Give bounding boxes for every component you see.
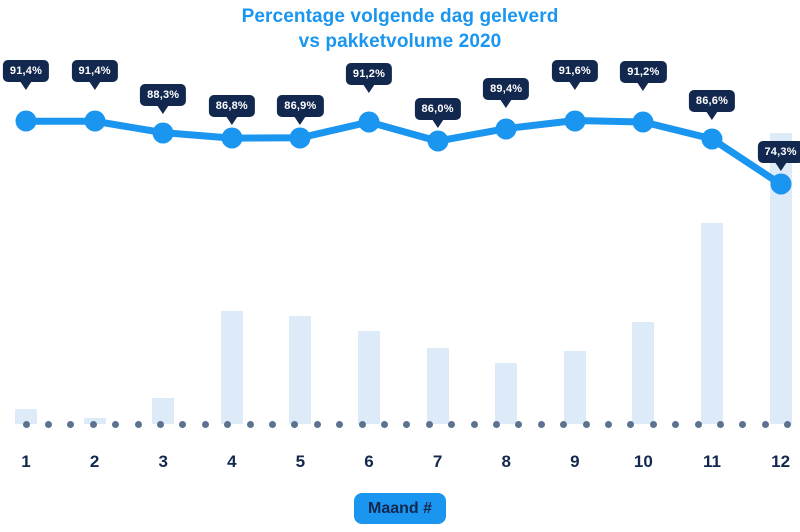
x-tick-label: 10 <box>634 452 653 472</box>
data-label: 88,3% <box>140 84 186 106</box>
data-label: 86,9% <box>277 95 323 117</box>
x-tick-label: 7 <box>433 452 442 472</box>
x-tick-label: 8 <box>501 452 510 472</box>
chart-title-line-1: Percentage volgende dag geleverd <box>242 6 559 27</box>
x-axis-tick-labels: 123456789101112 <box>0 452 800 478</box>
x-tick-label: 4 <box>227 452 236 472</box>
x-axis-title: Maand # <box>354 493 446 524</box>
chart-title: Percentage volgende dag geleverd vs pakk… <box>0 4 800 54</box>
data-label: 91,2% <box>346 63 392 85</box>
data-label: 89,4% <box>483 78 529 100</box>
x-tick-label: 5 <box>296 452 305 472</box>
data-labels: 91,4%91,4%88,3%86,8%86,9%91,2%86,0%89,4%… <box>0 60 800 432</box>
data-label: 86,6% <box>689 90 735 112</box>
data-label: 91,4% <box>71 60 117 82</box>
data-label: 91,6% <box>552 60 598 82</box>
x-tick-label: 9 <box>570 452 579 472</box>
data-label: 74,3% <box>757 141 800 163</box>
plot-area: 91,4%91,4%88,3%86,8%86,9%91,2%86,0%89,4%… <box>0 60 800 432</box>
data-label: 86,0% <box>414 98 460 120</box>
x-tick-label: 12 <box>771 452 790 472</box>
data-label: 86,8% <box>209 95 255 117</box>
chart-title-line-2: vs pakketvolume 2020 <box>0 29 800 54</box>
data-label: 91,4% <box>3 60 49 82</box>
chart-container: Percentage volgende dag geleverd vs pakk… <box>0 0 800 532</box>
x-tick-label: 11 <box>703 452 721 472</box>
x-tick-label: 6 <box>364 452 373 472</box>
x-axis-title-wrap: Maand # <box>0 493 800 524</box>
x-tick-label: 3 <box>158 452 167 472</box>
x-tick-label: 2 <box>90 452 99 472</box>
data-label: 91,2% <box>620 61 666 83</box>
x-tick-label: 1 <box>21 452 30 472</box>
